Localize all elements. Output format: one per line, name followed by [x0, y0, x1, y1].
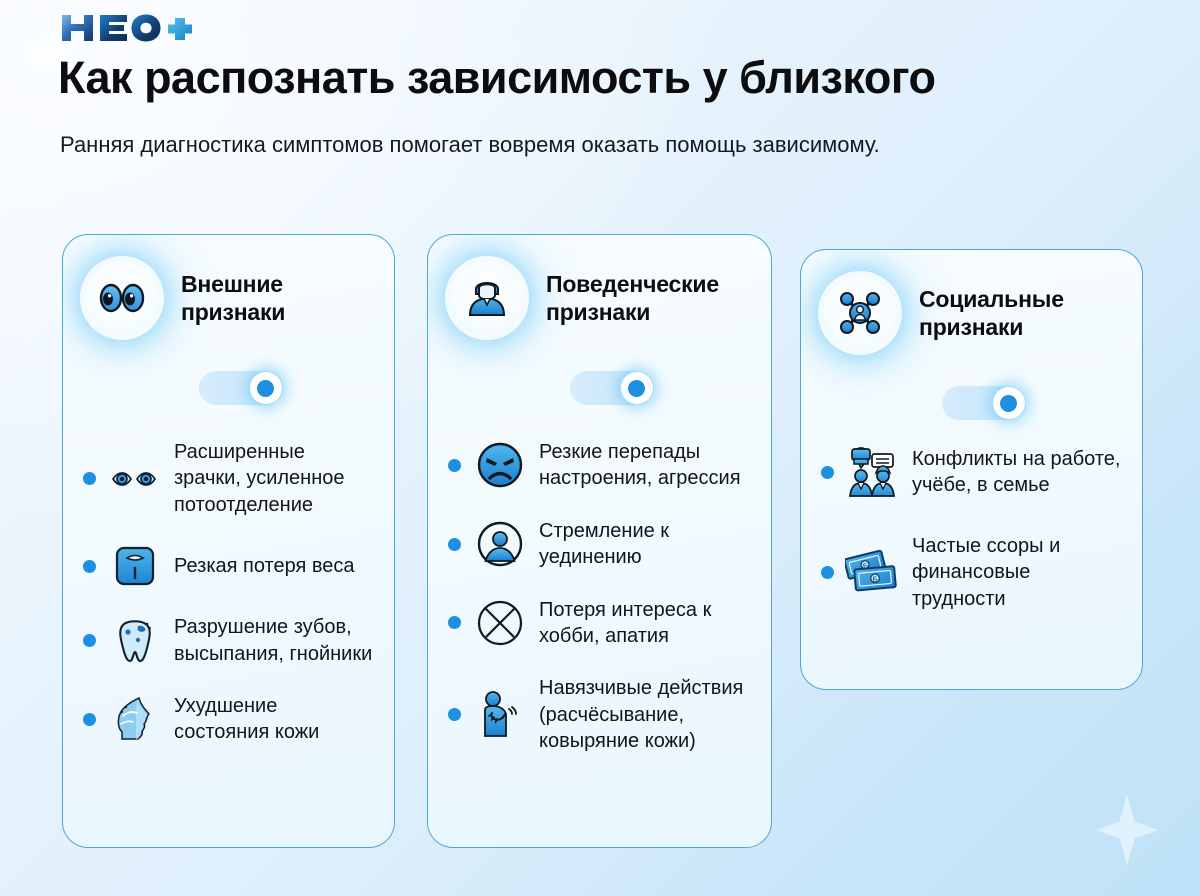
list-item: Стремление к уединению: [448, 518, 753, 571]
signs-list: Конфликты на работе, учёбе, в семье: [801, 420, 1142, 612]
dilated-pupils-icon: [107, 467, 163, 491]
scratching-person-icon: [472, 690, 528, 740]
card-social-signs: Социальные признаки: [800, 249, 1143, 690]
list-item-text: Резкие перепады настроения, агрессия: [539, 439, 753, 492]
infographic-page: Как распознать зависимость у близкого Ра…: [0, 0, 1200, 896]
weight-scale-icon: [107, 544, 163, 588]
bullet-icon: [448, 538, 461, 551]
list-item-text: Резкая потеря веса: [174, 553, 355, 579]
list-item-text: Расширенные зрачки, усиленное потоотделе…: [174, 439, 376, 518]
toggle-knob[interactable]: [250, 372, 282, 404]
user-circle-icon: [472, 520, 528, 568]
bullet-icon: [448, 459, 461, 472]
list-item-text: Потеря интереса к хобби, апатия: [539, 597, 753, 650]
list-item: Навязчивые действия (расчёсывание, ковыр…: [448, 675, 753, 754]
toggle-behavioral-signs[interactable]: [570, 371, 654, 405]
eyes-icon: [85, 261, 159, 335]
angry-face-icon: [472, 441, 528, 489]
signs-list: Расширенные зрачки, усиленное потоотделе…: [63, 405, 394, 746]
list-item: Резкие перепады настроения, агрессия: [448, 439, 753, 492]
toggle-social-signs[interactable]: [942, 386, 1026, 420]
list-item-text: Стремление к уединению: [539, 518, 753, 571]
list-item: Расширенные зрачки, усиленное потоотделе…: [83, 439, 376, 518]
bullet-icon: [83, 472, 96, 485]
banknotes-icon: Ƃ Ƃ: [845, 548, 901, 596]
toggle-container: [63, 335, 394, 405]
card-external-signs: Внешние признаки: [62, 234, 395, 848]
toggle-container: [428, 335, 771, 405]
list-item: Конфликты на работе, учёбе, в семье: [821, 446, 1124, 499]
page-title: Как распознать зависимость у близкого: [58, 54, 1168, 103]
toggle-container: [801, 350, 1142, 420]
bullet-icon: [83, 713, 96, 726]
bullet-icon: [821, 566, 834, 579]
bullet-icon: [821, 466, 834, 479]
list-item-text: Частые ссоры и финансовые трудности: [912, 533, 1124, 612]
list-item-text: Ухудшение состояния кожи: [174, 693, 376, 746]
card-header: Поведенческие признаки: [428, 235, 771, 335]
toggle-knob[interactable]: [621, 372, 653, 404]
card-title: Социальные признаки: [919, 285, 1122, 341]
bullet-icon: [448, 616, 461, 629]
bullet-icon: [448, 708, 461, 721]
list-item: Резкая потеря веса: [83, 544, 376, 588]
brand-logo: [60, 13, 198, 43]
list-item-text: Разрушение зубов, высыпания, гнойники: [174, 614, 376, 667]
list-item-text: Конфликты на работе, учёбе, в семье: [912, 446, 1124, 499]
face-skin-icon: [107, 696, 163, 742]
bullet-icon: [83, 560, 96, 573]
sparkle-decoration: [1096, 794, 1158, 866]
crossed-circle-icon: [472, 599, 528, 647]
people-conflict-icon: [845, 446, 901, 498]
list-item: Ухудшение состояния кожи: [83, 693, 376, 746]
list-item: Потеря интереса к хобби, апатия: [448, 597, 753, 650]
svg-text:Ƃ: Ƃ: [872, 575, 878, 584]
toggle-external-signs[interactable]: [199, 371, 283, 405]
list-item: Ƃ Ƃ Частые ссоры и финансовые трудности: [821, 533, 1124, 612]
bullet-icon: [83, 634, 96, 647]
page-subtitle: Ранняя диагностика симптомов помогает во…: [60, 128, 960, 162]
signs-list: Резкие перепады настроения, агрессия: [428, 405, 771, 755]
card-header: Внешние признаки: [63, 235, 394, 335]
list-item: Разрушение зубов, высыпания, гнойники: [83, 614, 376, 667]
card-title: Поведенческие признаки: [546, 270, 751, 326]
person-avatar-icon: [450, 261, 524, 335]
toggle-knob[interactable]: [993, 387, 1025, 419]
card-header: Социальные признаки: [801, 250, 1142, 350]
social-network-icon: [823, 276, 897, 350]
card-behavioral-signs: Поведенческие признаки: [427, 234, 772, 848]
list-item-text: Навязчивые действия (расчёсывание, ковыр…: [539, 675, 753, 754]
card-title: Внешние признаки: [181, 270, 374, 326]
tooth-decay-icon: [107, 618, 163, 664]
